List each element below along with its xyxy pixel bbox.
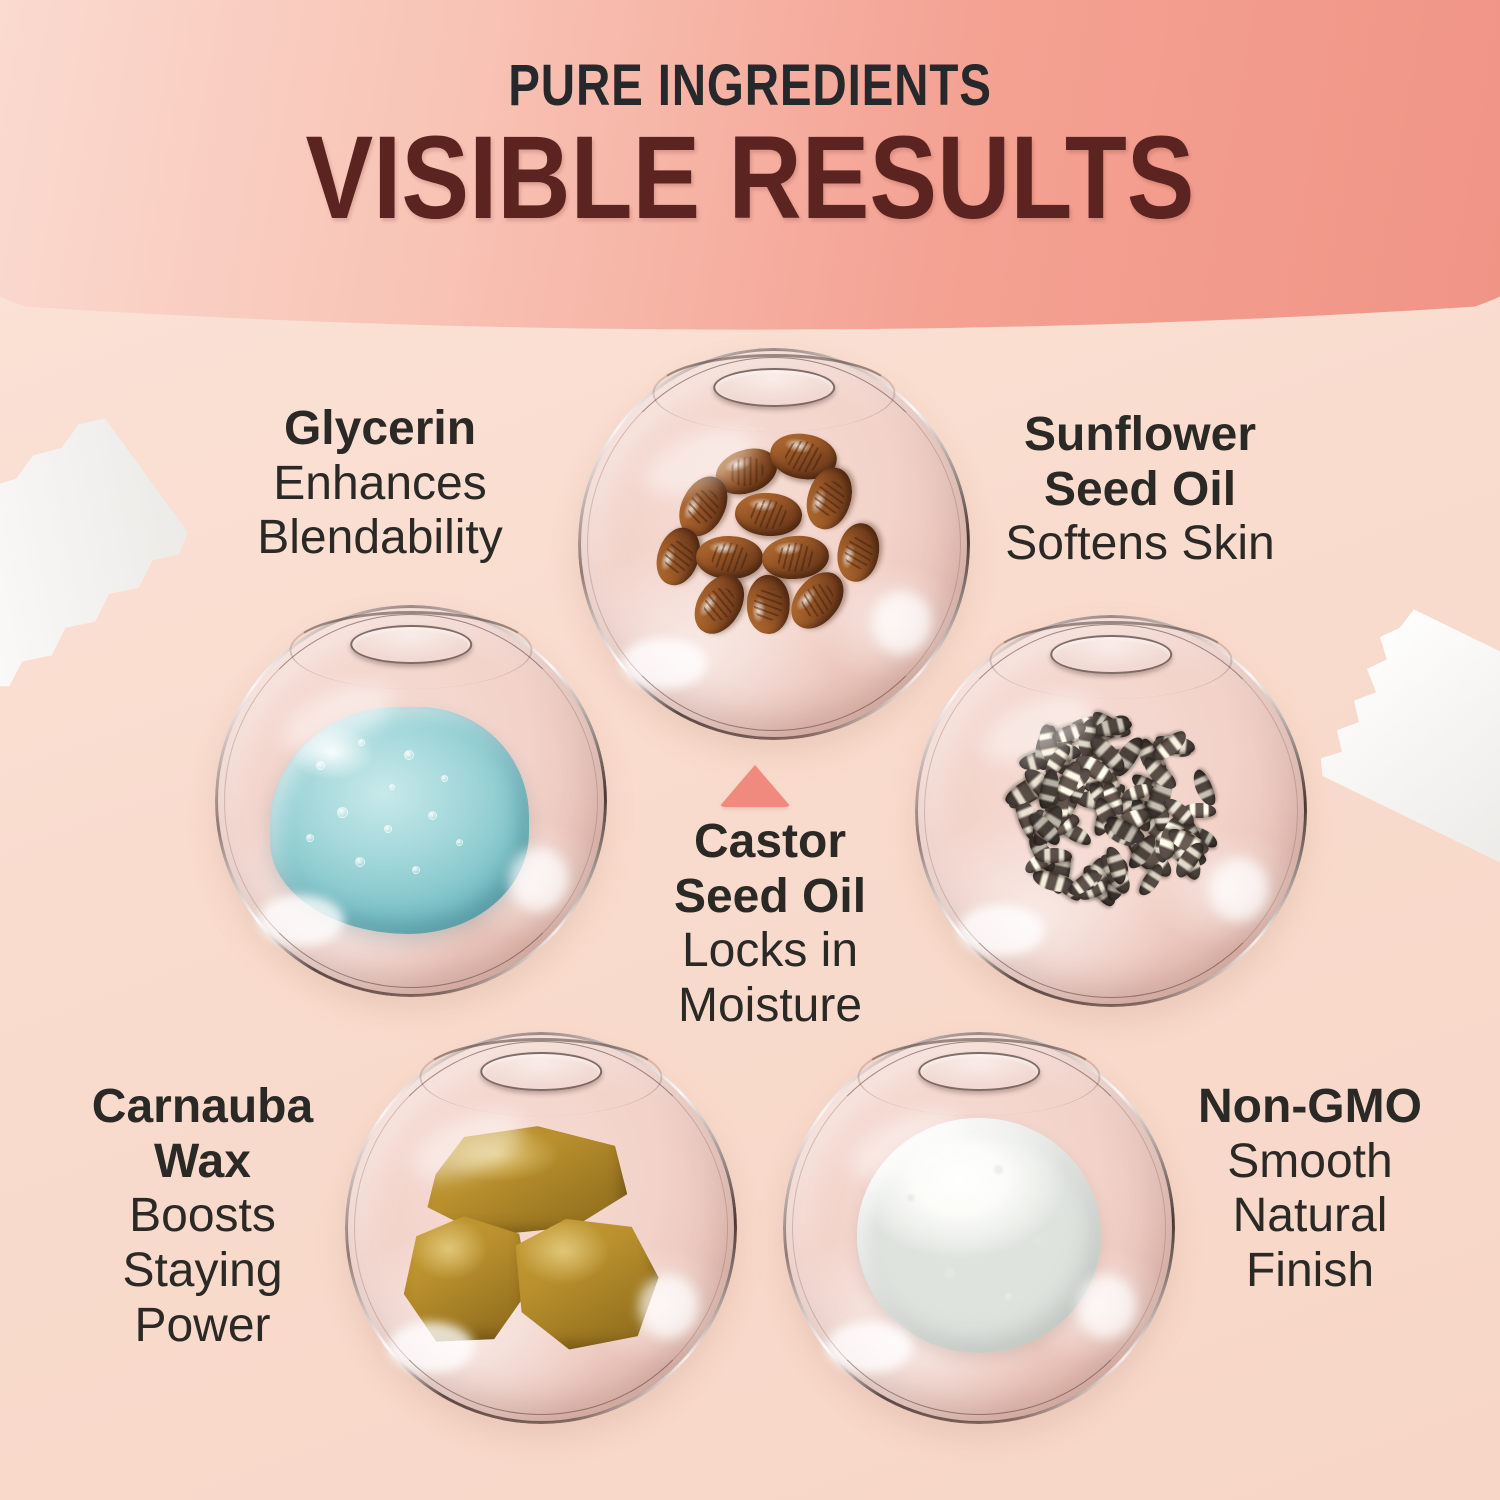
- ingredient-name-carnauba-line-2: Wax: [40, 1135, 365, 1190]
- ingredient-benefit-non-gmo-line-1: Smooth: [1145, 1135, 1475, 1190]
- ingredient-name-sunflower-line-1: Sunflower: [960, 408, 1320, 463]
- ingredient-label-glycerin: Glycerin Enhances Blendability: [200, 402, 560, 566]
- glass-highlight-lower-right: [639, 1275, 698, 1338]
- eyebrow-title: PURE INGREDIENTS: [135, 52, 1365, 119]
- ingredient-name-castor-line-2: Seed Oil: [605, 870, 935, 925]
- ingredient-sphere-carnauba-wax: [345, 1032, 737, 1424]
- page-title: VISIBLE RESULTS: [105, 110, 1395, 246]
- glass-highlight-lower-right: [1209, 858, 1268, 921]
- ingredient-name-glycerin: Glycerin: [200, 402, 560, 457]
- ingredient-benefit-non-gmo-line-3: Finish: [1145, 1244, 1475, 1299]
- ingredient-name-sunflower-line-2: Seed Oil: [960, 463, 1320, 518]
- ingredient-sphere-non-gmo: [783, 1032, 1175, 1424]
- ingredient-benefit-carnauba-line-2: Staying: [40, 1244, 365, 1299]
- ingredient-label-sunflower-seed-oil: Sunflower Seed Oil Softens Skin: [960, 408, 1320, 572]
- ingredient-sphere-glycerin: [215, 605, 607, 997]
- sunflower-seed: [1035, 847, 1072, 863]
- ingredient-benefit-glycerin-line-1: Enhances: [200, 457, 560, 512]
- triangle-up-icon: [719, 765, 791, 807]
- ingredient-label-castor-seed-oil: Castor Seed Oil Locks in Moisture: [605, 815, 935, 1034]
- ingredient-benefit-carnauba-line-1: Boosts: [40, 1189, 365, 1244]
- glass-highlight-lower-left: [258, 895, 344, 946]
- glass-highlight-lower-left: [621, 638, 707, 689]
- glass-highlight-lower-left: [388, 1322, 474, 1373]
- ingredient-benefit-non-gmo-line-2: Natural: [1145, 1189, 1475, 1244]
- ingredient-benefit-sunflower-line-1: Softens Skin: [960, 517, 1320, 572]
- ingredient-name-carnauba-line-1: Carnauba: [40, 1080, 365, 1135]
- ingredient-name-non-gmo: Non-GMO: [1145, 1080, 1475, 1135]
- glass-highlight-lower-right: [1077, 1275, 1136, 1338]
- ingredient-benefit-carnauba-line-3: Power: [40, 1299, 365, 1354]
- ingredient-sphere-sunflower-seed-oil: [915, 615, 1307, 1007]
- ingredient-benefit-castor-line-2: Moisture: [605, 979, 935, 1034]
- infographic-canvas: PURE INGREDIENTS VISIBLE RESULTS: [0, 0, 1500, 1500]
- glass-highlight-lower-left: [958, 905, 1044, 956]
- ingredient-benefit-castor-line-1: Locks in: [605, 924, 935, 979]
- glass-highlight-lower-right: [509, 848, 568, 911]
- ingredient-label-non-gmo: Non-GMO Smooth Natural Finish: [1145, 1080, 1475, 1299]
- ingredient-label-carnauba-wax: Carnauba Wax Boosts Staying Power: [40, 1080, 365, 1354]
- ingredient-name-castor-line-1: Castor: [605, 815, 935, 870]
- ingredient-benefit-glycerin-line-2: Blendability: [200, 511, 560, 566]
- glass-highlight-lower-left: [826, 1322, 912, 1373]
- ingredient-sphere-castor-seed-oil: [578, 348, 970, 740]
